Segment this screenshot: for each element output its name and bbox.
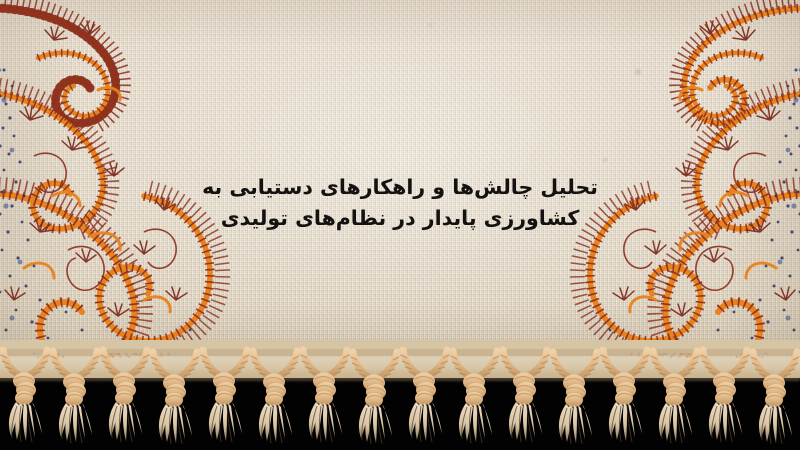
cloth-selvedge-edge <box>0 352 800 378</box>
title-line-2: کشاورزی پایدار در نظام‌های تولیدی <box>0 203 800 234</box>
title-slide: تحلیل چالش‌ها و راهکارهای دستیابی به کشا… <box>0 0 800 450</box>
title-line-1: تحلیل چالش‌ها و راهکارهای دستیابی به <box>0 172 800 203</box>
slide-title: تحلیل چالش‌ها و راهکارهای دستیابی به کشا… <box>0 172 800 234</box>
